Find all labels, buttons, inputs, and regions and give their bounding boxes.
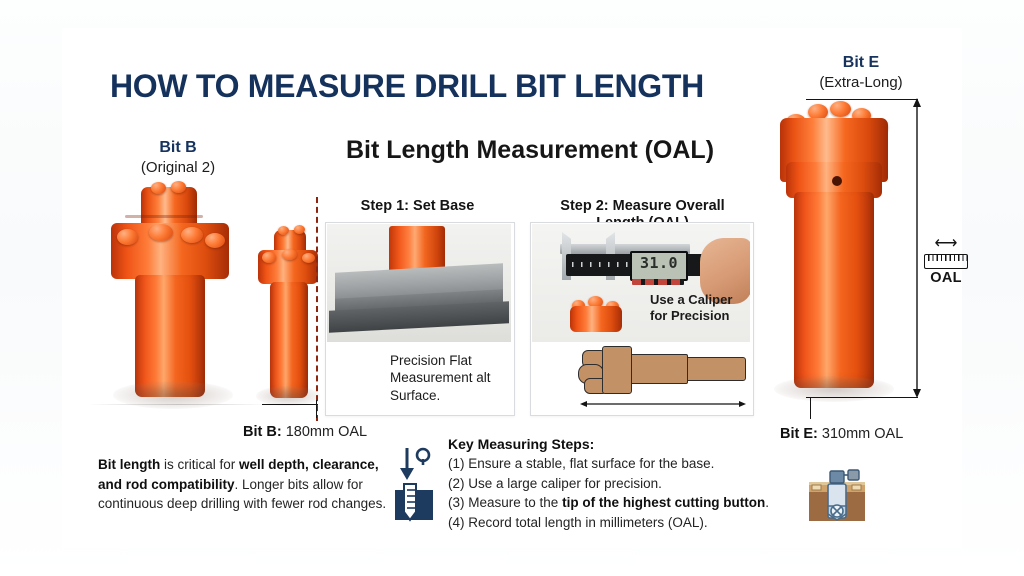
cutting-button — [302, 253, 315, 263]
ruler-icon — [924, 254, 968, 269]
key-step-pre: Record total length in millimeters (OAL)… — [468, 515, 707, 530]
key-step-item: (2) Use a large caliper for precision. — [448, 474, 778, 494]
bit-e-sublabel: (Extra-Long) — [819, 74, 902, 91]
caliper-lcd: 31.0 — [630, 251, 688, 281]
bit-b-name: Bit B — [159, 139, 196, 156]
key-step-num: (4) — [448, 515, 465, 530]
key-step-num: (2) — [448, 476, 465, 491]
bit-e-oal-prefix: Bit E: — [780, 426, 818, 442]
bit-b-dim-line — [262, 404, 318, 405]
bit-groove — [832, 176, 842, 186]
key-step-item: (4) Record total length in millimeters (… — [448, 513, 778, 533]
cutting-button — [262, 252, 276, 263]
bit-length-blurb: Bit length is critical for well depth, c… — [98, 455, 398, 514]
bit-shank — [794, 192, 874, 388]
cutting-button — [149, 224, 173, 241]
infographic-canvas: HOW TO MEASURE DRILL BIT LENGTH Bit Leng… — [0, 0, 1024, 576]
cutting-button — [830, 101, 851, 117]
cutting-button — [278, 226, 289, 235]
step-1-title: Step 1: Set Base — [330, 198, 505, 215]
bit-b-oal-prefix: Bit B: — [243, 424, 282, 440]
bit-b-oal-text: Bit B: 180mm OAL — [243, 424, 367, 440]
oal-arrow-glyph: ⟷ — [916, 236, 976, 252]
depth-measure-icon — [392, 446, 436, 526]
oal-badge: ⟷ OAL — [916, 236, 976, 286]
key-step-num: (3) — [448, 495, 465, 510]
drill-bit-measured — [568, 296, 624, 336]
oal-badge-label: OAL — [916, 270, 976, 286]
bit-e-baseline — [810, 397, 811, 419]
cutting-button — [181, 227, 203, 243]
blurb-lead: Bit length — [98, 457, 160, 472]
bit-e-bottom-tick — [806, 397, 918, 398]
drill-bit-b-large — [105, 185, 235, 415]
key-steps-heading: Key Measuring Steps: — [448, 434, 778, 454]
cutting-button — [117, 229, 138, 245]
bit-e-oal-text: Bit E: 310mm OAL — [780, 426, 903, 442]
key-steps-block: Key Measuring Steps: (1) Ensure a stable… — [448, 434, 778, 533]
bit-shank — [135, 275, 205, 397]
borehole-drilling-icon — [806, 462, 868, 524]
bit-crown — [141, 187, 197, 227]
bit-shadow — [256, 386, 320, 406]
diagram-face — [602, 346, 632, 394]
bit-e-oal-value: 310mm OAL — [822, 426, 903, 442]
key-step-pre: Use a large caliper for precision. — [468, 476, 662, 491]
bit-b-oal-value: 180mm OAL — [286, 424, 367, 440]
surface-line — [88, 404, 268, 405]
bit-head — [570, 306, 622, 332]
step-2-inset-caption: Use a Caliper for Precision — [650, 292, 746, 324]
cutting-button — [282, 249, 297, 260]
bit-b-label: Bit B (Original 2) — [108, 138, 248, 178]
diagram-dimension-arrow — [580, 400, 746, 408]
page-title: HOW TO MEASURE DRILL BIT LENGTH — [110, 70, 770, 104]
drill-bit-b-small — [256, 228, 320, 414]
bit-e-top-tick — [806, 99, 918, 100]
bit-b-sublabel: (Original 2) — [141, 159, 215, 176]
caliper-buttons — [632, 279, 684, 285]
bit-e-label: Bit E (Extra-Long) — [786, 53, 936, 93]
section-divider — [316, 197, 318, 421]
step-1-caption: Precision Flat Measurement alt Surface. — [390, 352, 508, 404]
bit-groove — [125, 215, 203, 218]
page-subtitle: Bit Length Measurement (OAL) — [305, 136, 755, 165]
cutting-button — [205, 233, 225, 248]
bit-e-name: Bit E — [843, 54, 879, 71]
step-1-photo — [327, 224, 511, 342]
key-step-item: (3) Measure to the tip of the highest cu… — [448, 493, 778, 513]
cutting-button — [171, 181, 186, 193]
key-step-post: . — [765, 495, 769, 510]
bit-shank — [270, 282, 308, 398]
caliper-reading: 31.0 — [632, 254, 686, 272]
key-step-num: (1) — [448, 456, 465, 471]
blurb-mid: is critical for — [160, 457, 239, 472]
step-2-diagram — [532, 344, 750, 412]
key-step-item: (1) Ensure a stable, flat surface for th… — [448, 454, 778, 474]
drill-bit-e — [772, 100, 896, 400]
step-2-photo: 31.0 Use a Caliper for Precision — [532, 224, 750, 342]
cutting-button — [294, 225, 305, 234]
key-step-pre: Ensure a stable, flat surface for the ba… — [468, 456, 714, 471]
bit-b-dim-tick — [316, 400, 317, 418]
key-step-pre: Measure to the — [468, 495, 562, 510]
diagram-shank — [682, 357, 746, 381]
bit-shadow — [774, 376, 894, 402]
key-step-bold: tip of the highest cutting button — [562, 495, 765, 510]
cutting-button — [151, 182, 166, 194]
